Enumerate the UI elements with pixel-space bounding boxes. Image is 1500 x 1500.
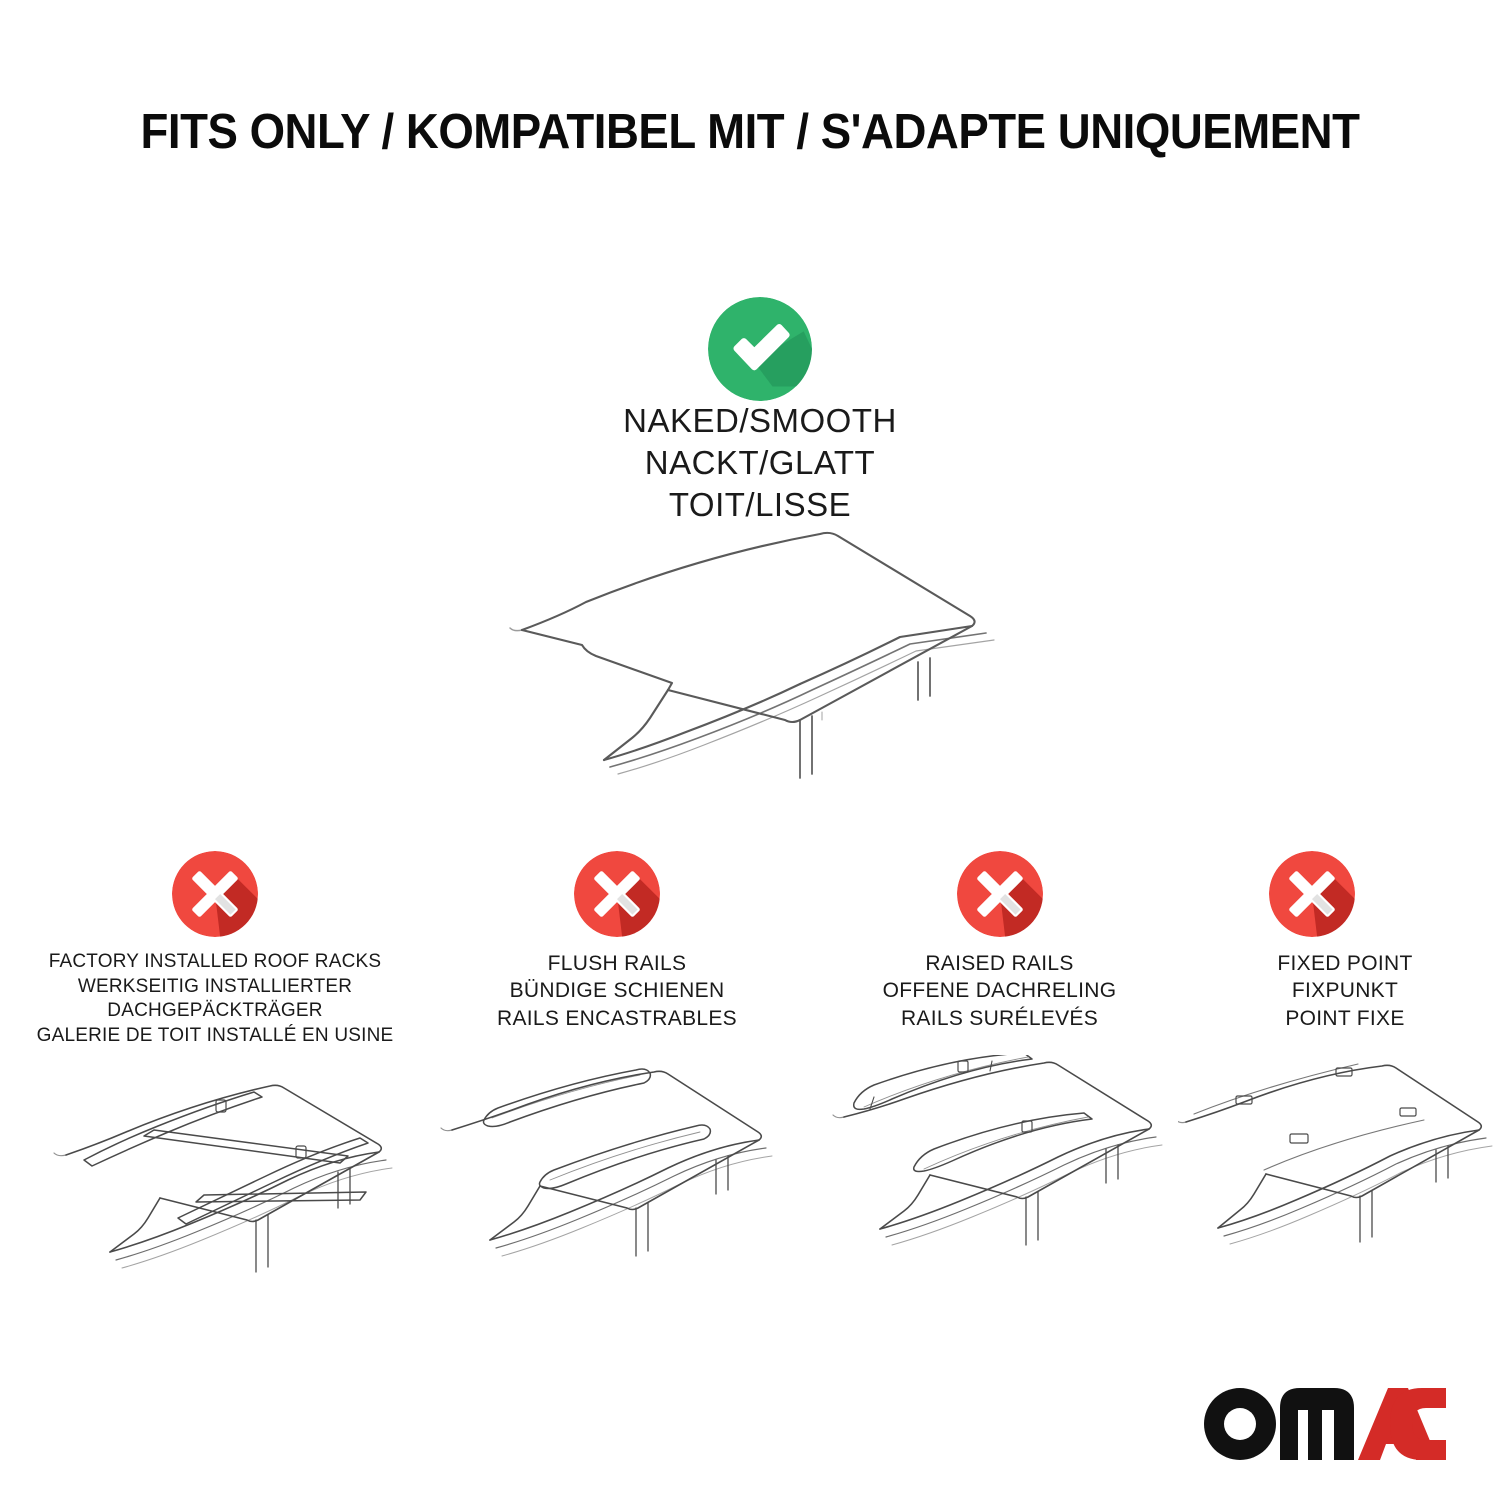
raised-rails-label: RAISED RAILS OFFENE DACHRELING RAILS SUR… [812,950,1187,1032]
check-circle-icon [708,297,812,401]
label-line-2: BÜNDIGE SCHIENEN [427,977,807,1004]
label-line-1: FLUSH RAILS [427,950,807,977]
label-line-3: POINT FIXE [1160,1005,1500,1032]
cross-circle-icon [172,851,258,937]
compatibility-infographic: FITS ONLY / KOMPATIBEL MIT / S'ADAPTE UN… [0,0,1500,1500]
factory-installed-roof-racks-label: FACTORY INSTALLED ROOF RACKS WERKSEITIG … [10,950,420,1049]
car-roof-flush-rails-illustration [440,1060,815,1295]
label-line-3: RAILS SURÉLEVÉS [812,1005,1187,1032]
fixed-point-label: FIXED POINT FIXPUNKT POINT FIXE [1160,950,1500,1032]
label-line-3: DACHGEPÄCKTRÄGER [10,999,420,1024]
compatible-label: NAKED/SMOOTH NACKT/GLATT TOIT/LISSE [510,400,1010,527]
cross-circle-icon [574,851,660,937]
label-line-1: FACTORY INSTALLED ROOF RACKS [10,950,420,975]
car-roof-naked-smooth-illustration [500,520,1020,800]
flush-rails-label: FLUSH RAILS BÜNDIGE SCHIENEN RAILS ENCAS… [427,950,807,1032]
car-roof-raised-rails-illustration [830,1055,1205,1290]
page-title: FITS ONLY / KOMPATIBEL MIT / S'ADAPTE UN… [53,104,1448,160]
cross-circle-icon [957,851,1043,937]
label-line-2: OFFENE DACHRELING [812,977,1187,1004]
label-line-1: RAISED RAILS [812,950,1187,977]
omac-logo [1202,1384,1452,1464]
label-line-4: GALERIE DE TOIT INSTALLÉ EN USINE [10,1024,420,1049]
label-line-2: FIXPUNKT [1160,977,1500,1004]
compatible-label-line-2: NACKT/GLATT [510,442,1010,484]
label-line-1: FIXED POINT [1160,950,1500,977]
omac-logo-mark [1202,1384,1452,1464]
label-line-2: WERKSEITIG INSTALLIERTER [10,975,420,1000]
cross-circle-icon [1269,851,1355,937]
compatible-label-line-1: NAKED/SMOOTH [510,400,1010,442]
car-roof-fixed-point-illustration [1178,1060,1498,1295]
label-line-3: RAILS ENCASTRABLES [427,1005,807,1032]
car-roof-factory-rack-illustration [48,1060,448,1295]
